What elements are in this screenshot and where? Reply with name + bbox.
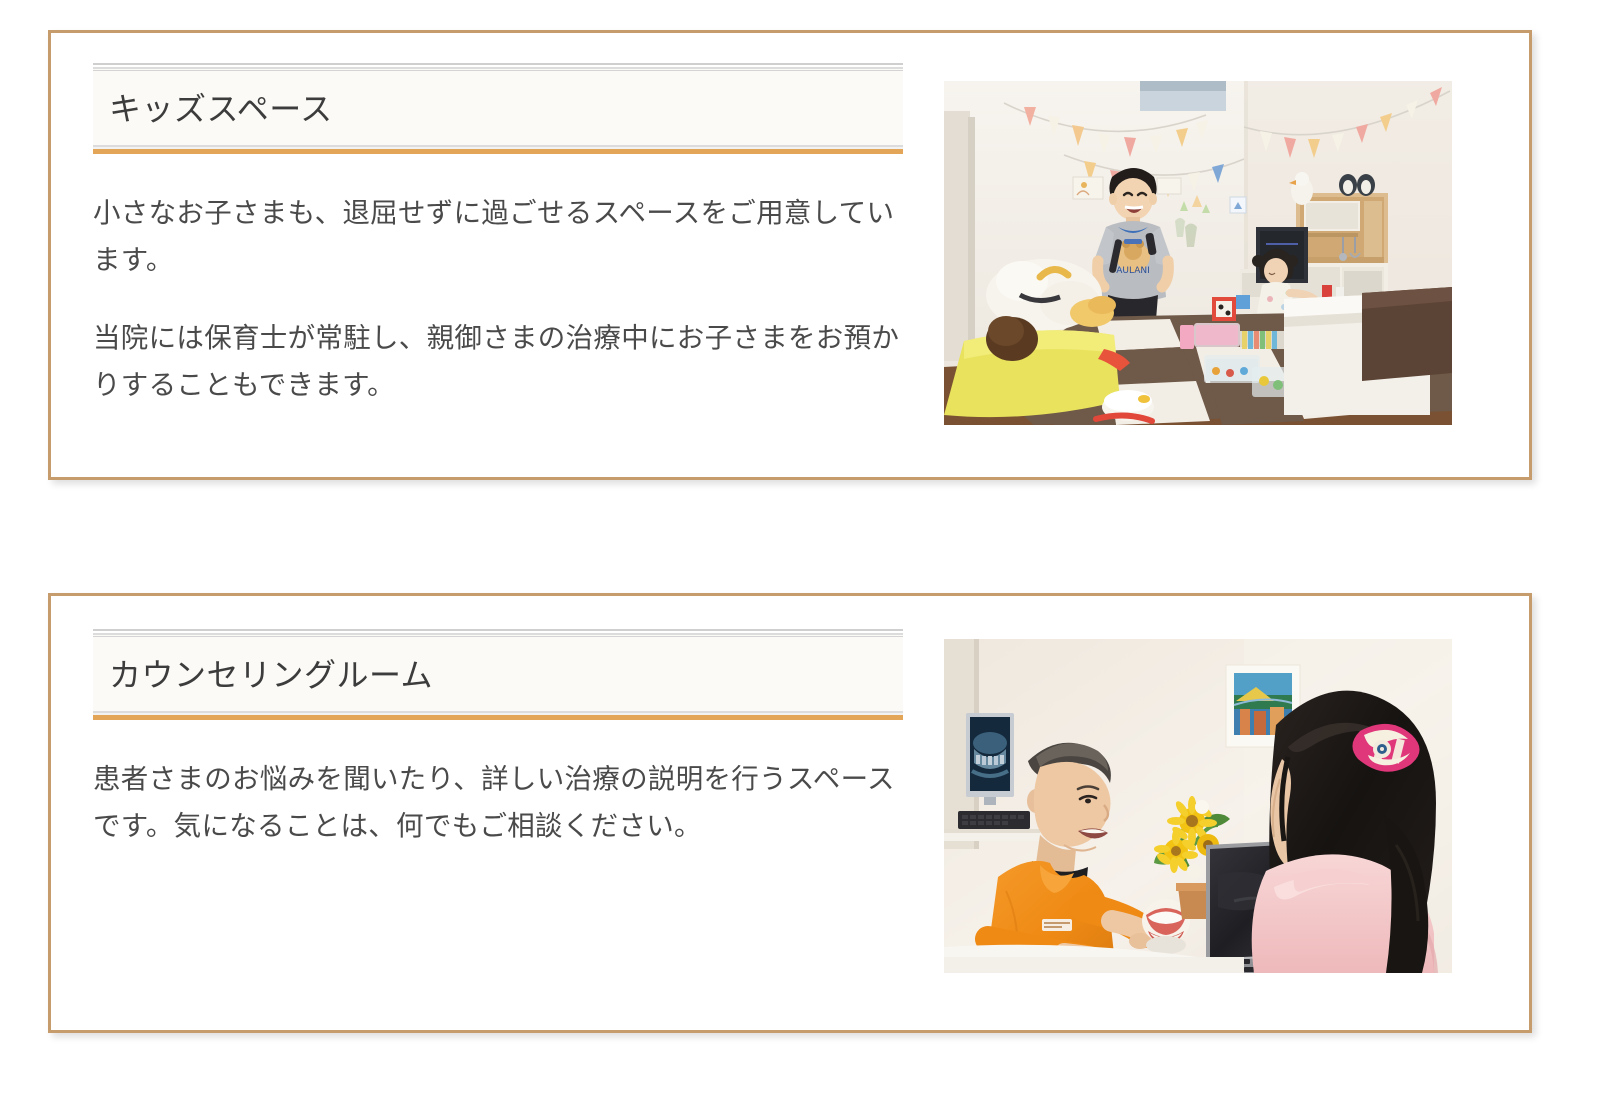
card-inner: カウンセリングルーム 患者さまのお悩みを聞いたり、詳しい治療の説明を行うスペース… bbox=[51, 596, 1529, 1030]
section-heading-block: キッズスペース bbox=[93, 67, 903, 145]
counseling-room-photo-illustration bbox=[944, 639, 1452, 973]
facility-card-kids-space: キッズスペース 小さなお子さまも、退屈せずに過ごせるスペースをご用意しています。… bbox=[48, 30, 1532, 480]
card-text-column: カウンセリングルーム 患者さまのお悩みを聞いたり、詳しい治療の説明を行うスペース… bbox=[93, 633, 913, 850]
card-text-column: キッズスペース 小さなお子さまも、退屈せずに過ごせるスペースをご用意しています。… bbox=[93, 67, 913, 408]
heading-top-rule bbox=[93, 63, 903, 69]
card-body-text: 患者さまのお悩みを聞いたり、詳しい治療の説明を行うスペースです。気になることは、… bbox=[93, 755, 913, 850]
heading-top-rule bbox=[93, 629, 903, 635]
paragraph: 小さなお子さまも、退屈せずに過ごせるスペースをご用意しています。 bbox=[93, 189, 913, 284]
heading-bottom-rule bbox=[93, 711, 903, 720]
card-inner: キッズスペース 小さなお子さまも、退屈せずに過ごせるスペースをご用意しています。… bbox=[51, 33, 1529, 477]
counseling-room-photo: カウンセリングルームの写真 — オレンジ色のスクラブを着た歯科医が歯の模型を持ち… bbox=[944, 639, 1452, 973]
paragraph: 患者さまのお悩みを聞いたり、詳しい治療の説明を行うスペースです。気になることは、… bbox=[93, 755, 913, 850]
section-heading-block: カウンセリングルーム bbox=[93, 633, 903, 711]
page-title: キッズスペース bbox=[109, 89, 887, 129]
paragraph: 当院には保育士が常駐し、親御さまの治療中にお子さまをお預かりすることもできます。 bbox=[93, 314, 913, 409]
heading-bottom-rule bbox=[93, 145, 903, 154]
card-body-text: 小さなお子さまも、退屈せずに過ごせるスペースをご用意しています。 当院には保育士… bbox=[93, 189, 913, 408]
kids-space-photo: キッズスペースの写真 — 三角フラッグガーランドが飾られた白い部屋で、グレーのT… bbox=[944, 81, 1452, 425]
kids-space-photo-illustration: AULANI bbox=[944, 81, 1452, 425]
svg-text:AULANI: AULANI bbox=[1116, 266, 1150, 276]
page-title: カウンセリングルーム bbox=[109, 655, 887, 695]
facility-card-counseling-room: カウンセリングルーム 患者さまのお悩みを聞いたり、詳しい治療の説明を行うスペース… bbox=[48, 593, 1532, 1033]
page-root: キッズスペース 小さなお子さまも、退屈せずに過ごせるスペースをご用意しています。… bbox=[0, 0, 1618, 1116]
